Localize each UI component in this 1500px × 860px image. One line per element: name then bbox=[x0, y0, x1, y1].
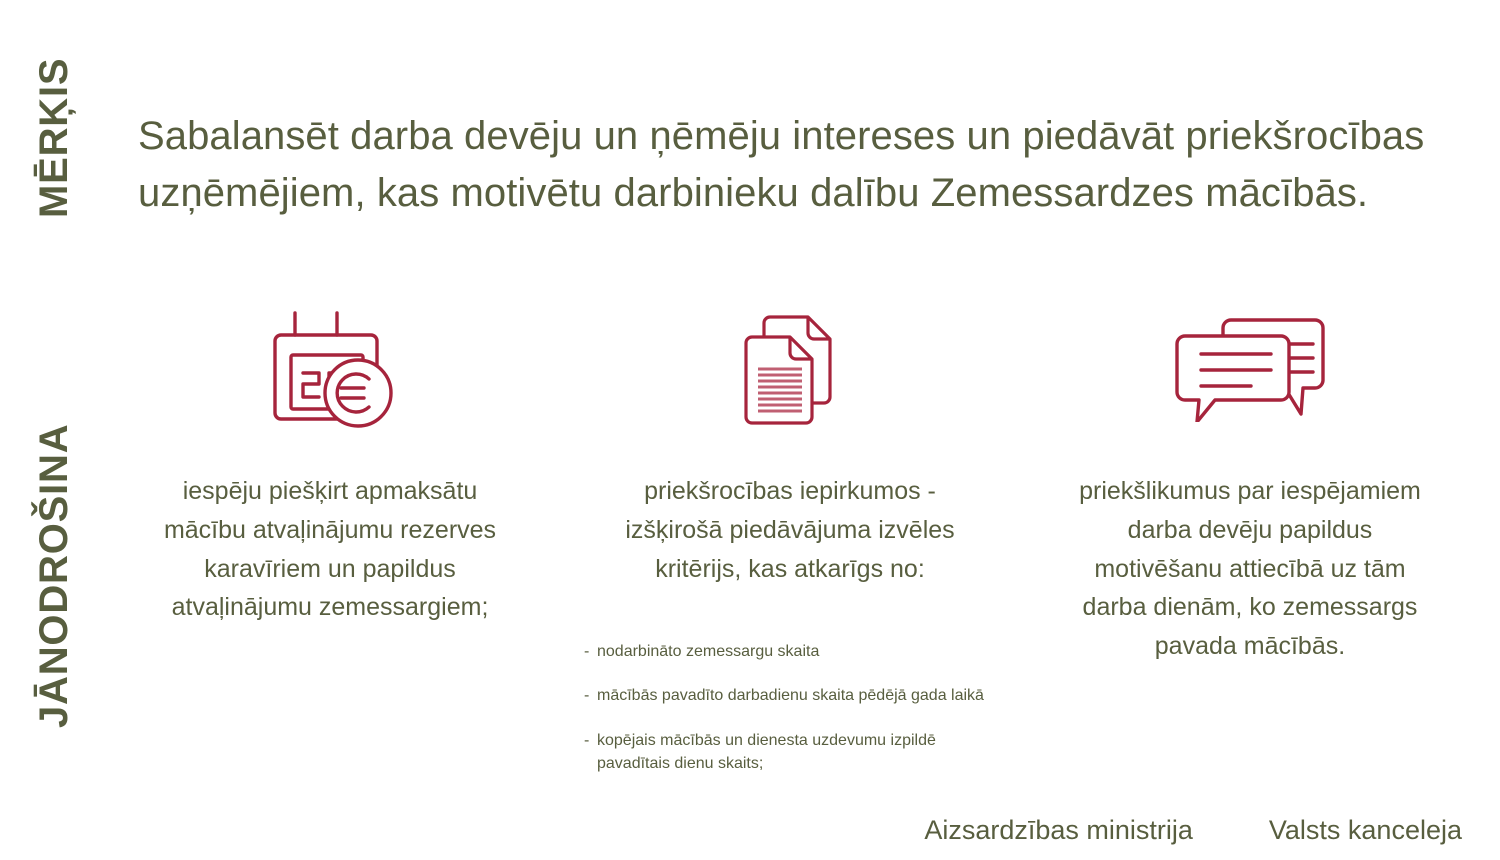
list-item-1-line-1: nodarbināto zemessargu skaita bbox=[597, 640, 1020, 663]
bullet-dash: - bbox=[584, 729, 597, 752]
footer-org-defence-ministry: Aizsardzības ministrija bbox=[924, 815, 1193, 846]
column-1-line-3: karavīriem un papildus bbox=[164, 550, 496, 589]
column-3-line-1: priekšlikumus par iespējamiem bbox=[1079, 472, 1421, 511]
column-3-body: priekšlikumus par iespējamiem darba devē… bbox=[1020, 472, 1480, 666]
speech-bubbles-icon bbox=[1175, 300, 1325, 440]
column-2-text: priekšrocības iepirkumos - izšķirošā pie… bbox=[625, 472, 954, 588]
column-1-line-1: iespēju piešķirt apmaksātu bbox=[164, 472, 496, 511]
list-item-2-line-1: mācībās pavadīto darbadienu skaita pēdēj… bbox=[597, 684, 1020, 707]
page-title: Sabalansēt darba devēju un ņēmēju intere… bbox=[138, 108, 1338, 222]
column-1-line-2: mācību atvaļinājumu rezerves bbox=[164, 511, 496, 550]
list-item-3-line-2: pavadītais dienu skaits; bbox=[597, 752, 1020, 775]
page-title-line-2: uzņēmējiem, kas motivētu darbinieku dalī… bbox=[138, 165, 1338, 222]
list-item: - kopējais mācībās un dienesta uzdevumu … bbox=[584, 729, 1020, 775]
column-2-line-1: priekšrocības iepirkumos - bbox=[625, 472, 954, 511]
slide-root: MĒRĶIS JĀNODROŠINA Sabalansēt darba devē… bbox=[0, 0, 1500, 860]
columns-container: iespēju piešķirt apmaksātu mācību atvaļi… bbox=[100, 300, 1480, 775]
side-label-must-provide: JĀNODROŠINA bbox=[34, 424, 74, 728]
column-1-line-4: atvaļinājumu zemessargiem; bbox=[164, 588, 496, 627]
bullet-dash: - bbox=[584, 684, 597, 707]
column-2-line-3: kritērijs, kas atkarīgs no: bbox=[625, 550, 954, 589]
column-2-body: priekšrocības iepirkumos - izšķirošā pie… bbox=[560, 472, 1020, 775]
calendar-euro-icon bbox=[265, 300, 395, 440]
list-item-3-line-1: kopējais mācībās un dienesta uzdevumu iz… bbox=[597, 729, 1020, 752]
column-3-line-5: pavada mācībās. bbox=[1079, 627, 1421, 666]
side-label-goal: MĒRĶIS bbox=[34, 58, 74, 218]
list-item: - nodarbināto zemessargu skaita bbox=[584, 640, 1020, 663]
footer: Aizsardzības ministrija Valsts kanceleja bbox=[924, 815, 1462, 846]
footer-org-state-chancellery: Valsts kanceleja bbox=[1269, 815, 1462, 846]
column-2-line-2: izšķirošā piedāvājuma izvēles bbox=[625, 511, 954, 550]
column-1-text: iespēju piešķirt apmaksātu mācību atvaļi… bbox=[164, 472, 496, 627]
column-3: priekšlikumus par iespējamiem darba devē… bbox=[1020, 300, 1480, 666]
documents-icon bbox=[742, 300, 838, 440]
list-item-text: mācībās pavadīto darbadienu skaita pēdēj… bbox=[597, 684, 1020, 707]
list-item: - mācībās pavadīto darbadienu skaita pēd… bbox=[584, 684, 1020, 707]
list-item-text: nodarbināto zemessargu skaita bbox=[597, 640, 1020, 663]
criteria-list: - nodarbināto zemessargu skaita - mācībā… bbox=[560, 640, 1020, 775]
column-3-line-2: darba devēju papildus bbox=[1079, 511, 1421, 550]
column-1-body: iespēju piešķirt apmaksātu mācību atvaļi… bbox=[100, 472, 560, 627]
list-item-text: kopējais mācībās un dienesta uzdevumu iz… bbox=[597, 729, 1020, 775]
bullet-dash: - bbox=[584, 640, 597, 663]
page-title-line-1: Sabalansēt darba devēju un ņēmēju intere… bbox=[138, 108, 1338, 165]
column-3-text: priekšlikumus par iespējamiem darba devē… bbox=[1079, 472, 1421, 666]
column-2: priekšrocības iepirkumos - izšķirošā pie… bbox=[560, 300, 1020, 775]
column-3-line-3: motivēšanu attiecībā uz tām bbox=[1079, 550, 1421, 589]
column-3-line-4: darba dienām, ko zemessargs bbox=[1079, 588, 1421, 627]
column-1: iespēju piešķirt apmaksātu mācību atvaļi… bbox=[100, 300, 560, 627]
